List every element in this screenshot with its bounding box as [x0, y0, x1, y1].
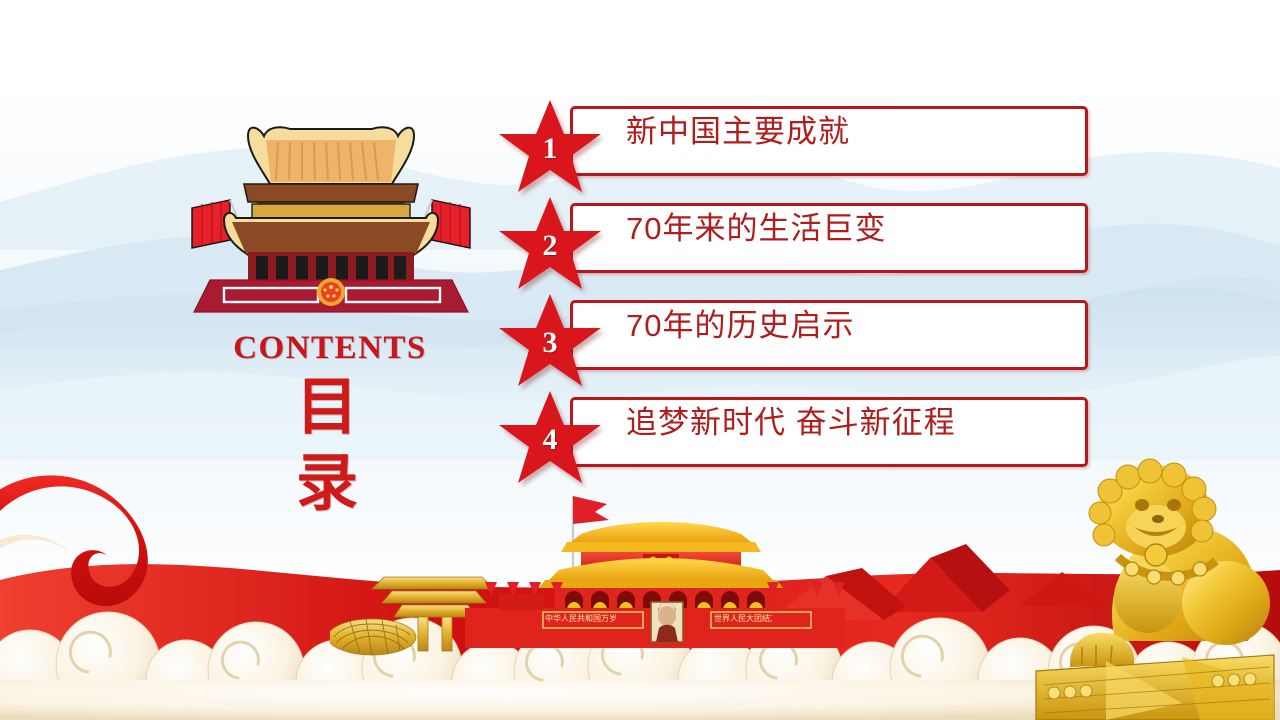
presentation-slide: CONTENTS 目 录 新中国主要成就 1 70年来的生活巨变 2 70年的历…	[0, 0, 1280, 720]
menu-item-1-number: 1	[498, 96, 602, 196]
temple-mid-eave	[244, 184, 418, 202]
contents-title-en: CONTENTS	[150, 330, 510, 366]
menu-item-2-label: 70年来的生活巨变	[626, 209, 1086, 250]
menu-item-3-number: 3	[498, 290, 602, 390]
menu-item-3[interactable]: 70年的历史启示 3	[498, 290, 1088, 374]
gate-upper-roof	[571, 522, 751, 542]
tiananmen-gate: 中华人民共和国万岁 世界人民大团结万岁	[455, 490, 855, 660]
menu-item-2[interactable]: 70年来的生活巨变 2	[498, 193, 1088, 277]
golden-guardian-lion	[1030, 435, 1280, 720]
menu-item-1-label: 新中国主要成就	[626, 112, 1086, 153]
menu-item-2-number: 2	[498, 193, 602, 293]
gate-banner-right-text: 世界人民大团结万岁	[714, 613, 772, 624]
tiananmen-temple-illustration	[186, 100, 476, 315]
menu-item-1[interactable]: 新中国主要成就 1	[498, 96, 1088, 180]
menu-item-3-label: 70年的历史启示	[626, 306, 1086, 347]
gate-banner-left-text: 中华人民共和国万岁	[545, 613, 617, 624]
